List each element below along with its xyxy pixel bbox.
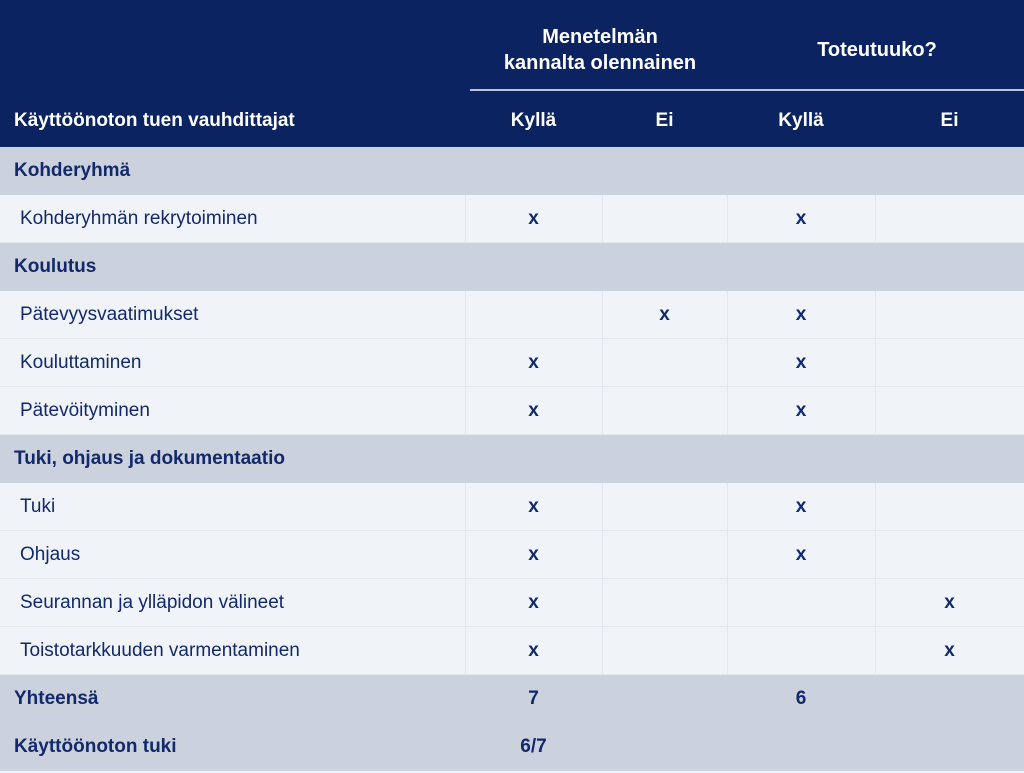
table-row: Pätevyysvaatimuksetxx [0,291,1024,339]
table-row-label: Pätevöityminen [20,387,150,435]
column-group-divider [470,89,1024,91]
table-row: Ohjausxx [0,531,1024,579]
cell-mark: x [727,531,875,579]
section-row-label: Kohderyhmä [14,147,130,195]
cell-empty [727,579,875,627]
column-group-header-toteutuuko: Toteutuuko? [730,37,1024,63]
cell-empty [875,147,1024,195]
cell-empty [602,675,727,723]
table-row: Seurannan ja ylläpidon välineetxx [0,579,1024,627]
table-row-label: Tuki [20,483,55,531]
cell-empty [465,291,602,339]
table-row-label: Seurannan ja ylläpidon välineet [20,579,284,627]
cell-mark: x [602,291,727,339]
cell-empty [875,675,1024,723]
cell-mark: 6 [727,675,875,723]
table-row-label: Kouluttaminen [20,339,141,387]
cell-empty [875,195,1024,243]
cell-empty [727,147,875,195]
table-row: Kouluttaminenxx [0,339,1024,387]
cell-empty [875,243,1024,291]
section-row: Koulutus [0,243,1024,291]
cell-empty [875,723,1024,771]
cell-empty [602,579,727,627]
cell-empty [727,723,875,771]
cell-empty [465,435,602,483]
sub-header-ei-toteutuuko: Ei [875,110,1024,132]
cell-empty [602,483,727,531]
cell-mark: x [465,483,602,531]
cell-mark: x [465,339,602,387]
cell-empty [602,531,727,579]
cell-empty [875,435,1024,483]
table-row-label: Ohjaus [20,531,80,579]
column-group-header-menetelman: Menetelmänkannalta olennainen [470,24,730,76]
cell-empty [602,723,727,771]
sub-header-kylla-menetelma: Kyllä [465,110,602,132]
total-row-label: Käyttöönoton tuki [14,723,177,771]
cell-mark: x [465,387,602,435]
sub-header-kylla-toteutuuko: Kyllä [727,110,875,132]
cell-empty [727,627,875,675]
table-row-label: Kohderyhmän rekrytoiminen [20,195,258,243]
cell-mark: x [727,387,875,435]
cell-mark: 6/7 [465,723,602,771]
section-row-label: Tuki, ohjaus ja dokumentaatio [14,435,285,483]
comparison-table: Menetelmänkannalta olennainen Toteutuuko… [0,0,1024,773]
cell-empty [875,531,1024,579]
cell-mark: x [875,579,1024,627]
cell-mark: x [727,291,875,339]
cell-empty [602,243,727,291]
table-row-label: Pätevyysvaatimukset [20,291,198,339]
total-row: Yhteensä76 [0,675,1024,723]
cell-mark: x [727,195,875,243]
cell-empty [875,483,1024,531]
section-row: Tuki, ohjaus ja dokumentaatio [0,435,1024,483]
cell-empty [602,147,727,195]
cell-mark: x [465,195,602,243]
cell-empty [875,291,1024,339]
cell-mark: x [727,483,875,531]
table-row: Toistotarkkuuden varmentaminenxx [0,627,1024,675]
cell-empty [602,627,727,675]
row-header-label: Käyttöönoton tuen vauhdittajat [14,110,295,132]
cell-mark: x [465,531,602,579]
cell-empty [465,243,602,291]
table-row: Tukixx [0,483,1024,531]
cell-empty [727,243,875,291]
total-row: Käyttöönoton tuki6/7 [0,723,1024,771]
section-row-label: Koulutus [14,243,96,291]
cell-mark: 7 [465,675,602,723]
table-header: Menetelmänkannalta olennainen Toteutuuko… [0,0,1024,147]
sub-header-ei-menetelma: Ei [602,110,727,132]
table-row: Kohderyhmän rekrytoiminenxx [0,195,1024,243]
cell-empty [875,387,1024,435]
total-row-label: Yhteensä [14,675,98,723]
cell-empty [602,195,727,243]
cell-empty [602,435,727,483]
cell-mark: x [875,627,1024,675]
table-row: Pätevöityminenxx [0,387,1024,435]
cell-mark: x [727,339,875,387]
cell-empty [602,339,727,387]
cell-mark: x [465,579,602,627]
cell-empty [602,387,727,435]
table-row-label: Toistotarkkuuden varmentaminen [20,627,300,675]
cell-empty [875,339,1024,387]
cell-empty [465,147,602,195]
cell-empty [727,435,875,483]
cell-mark: x [465,627,602,675]
section-row: Kohderyhmä [0,147,1024,195]
